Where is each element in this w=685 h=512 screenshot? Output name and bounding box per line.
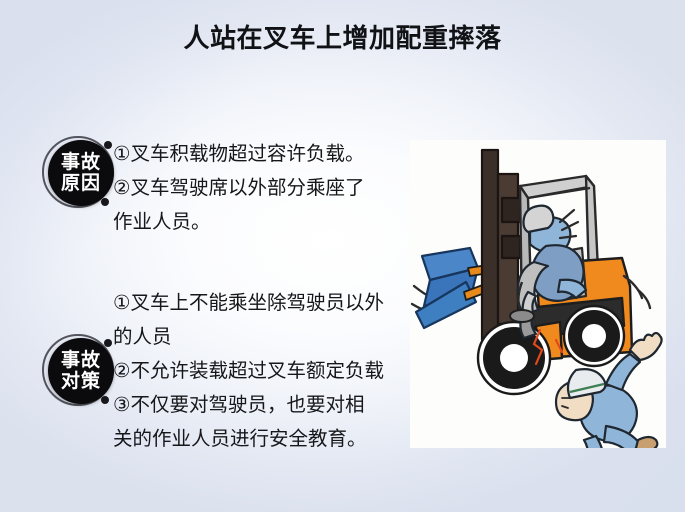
badge-label-line1: 事故 [61,350,101,371]
accident-cause-text: ①叉车积载物超过容许负载。 ②叉车驾驶席以外部分乘座了 作业人员。 [113,137,364,239]
measure-line-4: ③不仅要对驾驶员，也要对相 [113,388,384,422]
accident-countermeasure-text: ①叉车上不能乘坐除驾驶员以外 的人员 ②不允许装载超过叉车额定负载 ③不仅要对驾… [113,286,384,456]
measure-line-2: 的人员 [113,320,384,354]
badge-disc: 事故 对策 [48,338,114,404]
badge-label-line1: 事故 [61,152,101,173]
badge-disc: 事故 原因 [48,140,114,206]
badge-dot-bottom-icon [101,198,109,206]
page-title: 人站在叉车上增加配重摔落 [0,18,685,55]
cause-line-1: ①叉车积载物超过容许负载。 [113,137,364,171]
badge-label-line2: 原因 [61,173,101,194]
measure-line-3: ②不允许装载超过叉车额定负载 [113,354,384,388]
forklift-accident-illustration [410,140,666,448]
measure-line-1: ①叉车上不能乘坐除驾驶员以外 [113,286,384,320]
cause-line-3: 作业人员。 [113,205,364,239]
badge-accident-countermeasure: 事故 对策 [42,334,120,412]
badge-dot-top-icon [104,141,112,149]
slide-canvas: 人站在叉车上增加配重摔落 事故 原因 ①叉车积载物超过容许负载。 ②叉车驾驶席以… [0,0,685,512]
measure-line-5: 关的作业人员进行安全教育。 [113,422,384,456]
badge-label-line2: 对策 [61,371,101,392]
badge-dot-top-icon [104,339,112,347]
cause-line-2: ②叉车驾驶席以外部分乘座了 [113,171,364,205]
badge-accident-cause: 事故 原因 [42,136,120,214]
badge-dot-bottom-icon [101,396,109,404]
